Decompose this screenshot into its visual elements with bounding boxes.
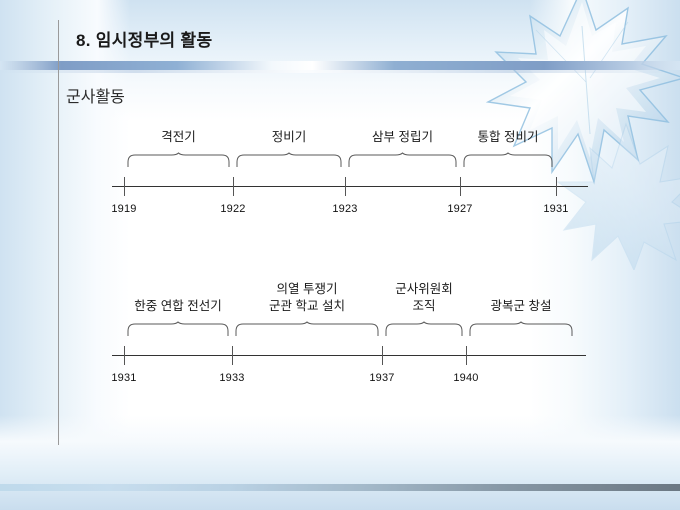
vertical-divider-rule	[58, 20, 59, 445]
background-bottom-wash	[0, 415, 680, 510]
section-subtitle: 군사활동	[66, 83, 125, 107]
header-accent-bar	[0, 61, 680, 70]
header-accent-bar-shadow	[0, 70, 680, 73]
presentation-slide: 8. 임시정부의 활동 군사활동 19191922192319271931격전기…	[0, 0, 680, 510]
footer-accent-bar	[0, 484, 680, 491]
page-title: 8. 임시정부의 활동	[76, 26, 212, 51]
